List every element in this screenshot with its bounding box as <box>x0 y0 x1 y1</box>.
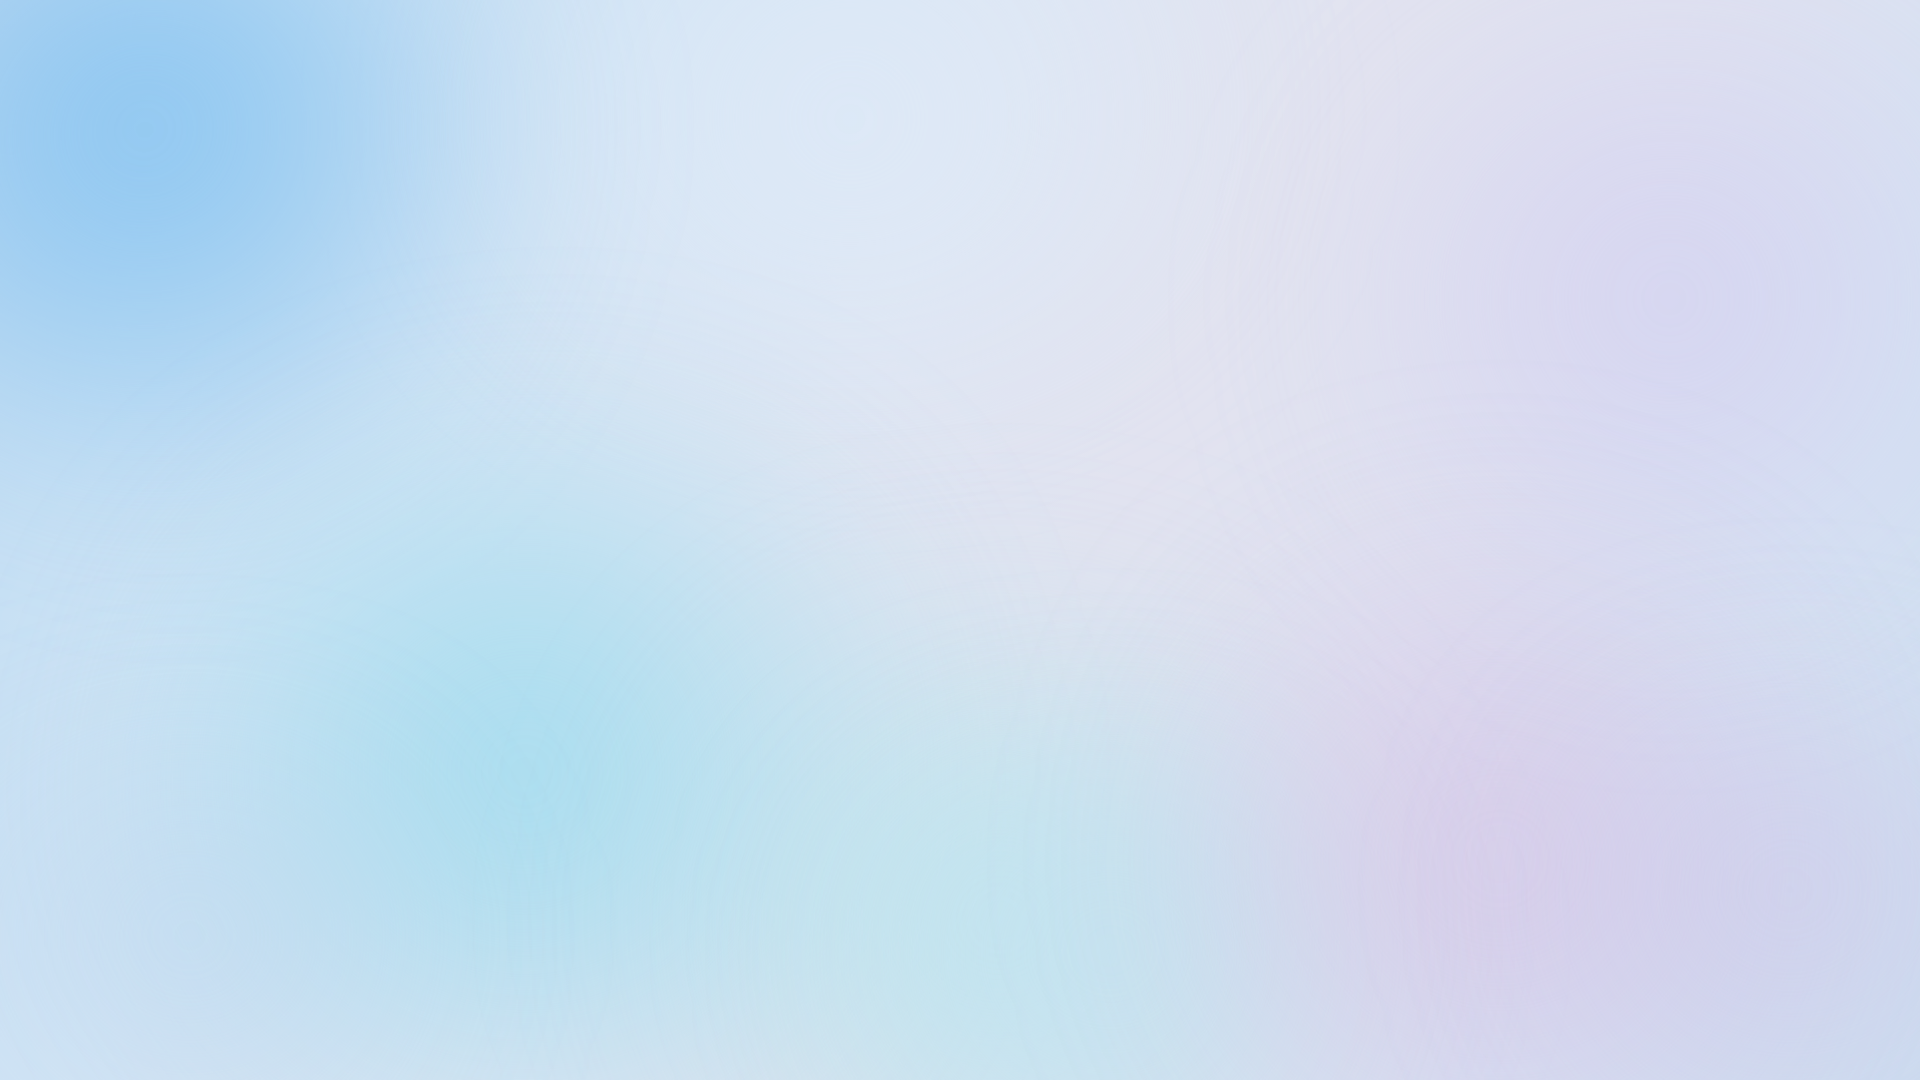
top-captions-row <box>0 228 1920 338</box>
process-arrow-ribbon <box>92 368 1842 464</box>
bottom-detail-columns <box>0 498 1920 838</box>
